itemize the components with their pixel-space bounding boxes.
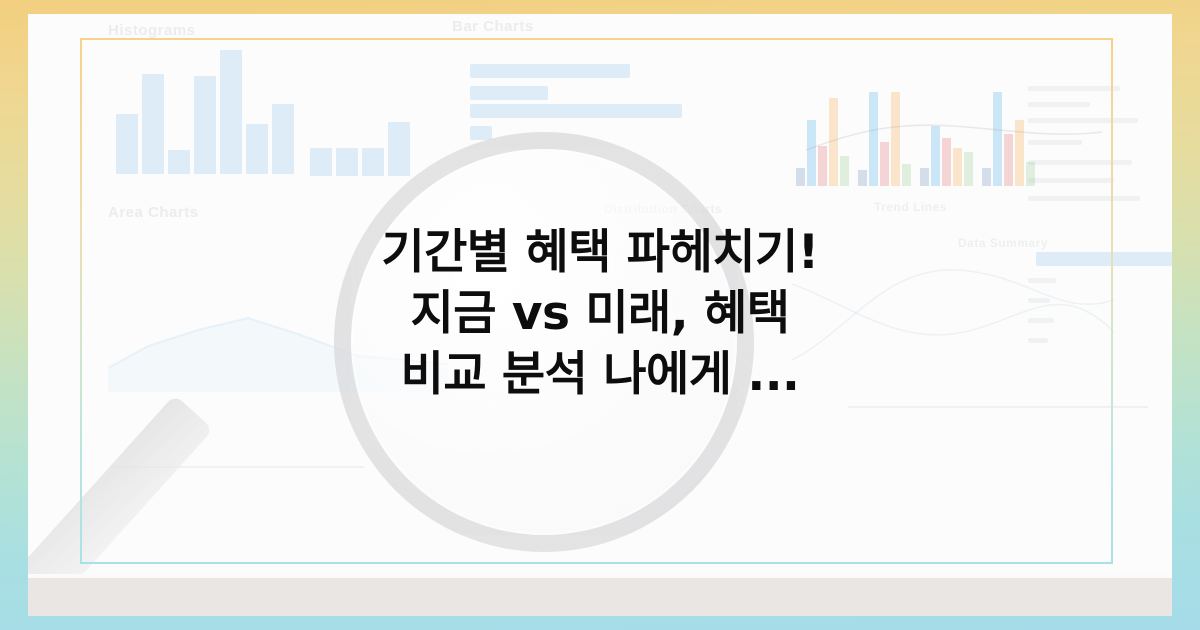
card-footer-band xyxy=(28,578,1172,616)
art-label-trend-lines: Trend Lines xyxy=(874,200,947,214)
art-label-distribution-charts: Distribution Charts xyxy=(604,202,722,216)
art-label-bar-charts: Bar Charts xyxy=(452,18,534,35)
art-label-area-charts: Area Charts xyxy=(108,204,199,221)
background-histogram-chart-secondary xyxy=(310,124,410,176)
content-card: Histograms Bar Charts Area Charts Distri… xyxy=(28,14,1172,616)
page-title: 기간별 혜택 파헤치기! 지금 vs 미래, 혜택 비교 분석 나에게 ... xyxy=(28,222,1172,405)
poster-canvas: Histograms Bar Charts Area Charts Distri… xyxy=(0,0,1200,630)
art-label-histograms: Histograms xyxy=(108,22,196,39)
background-histogram-chart xyxy=(116,54,294,174)
